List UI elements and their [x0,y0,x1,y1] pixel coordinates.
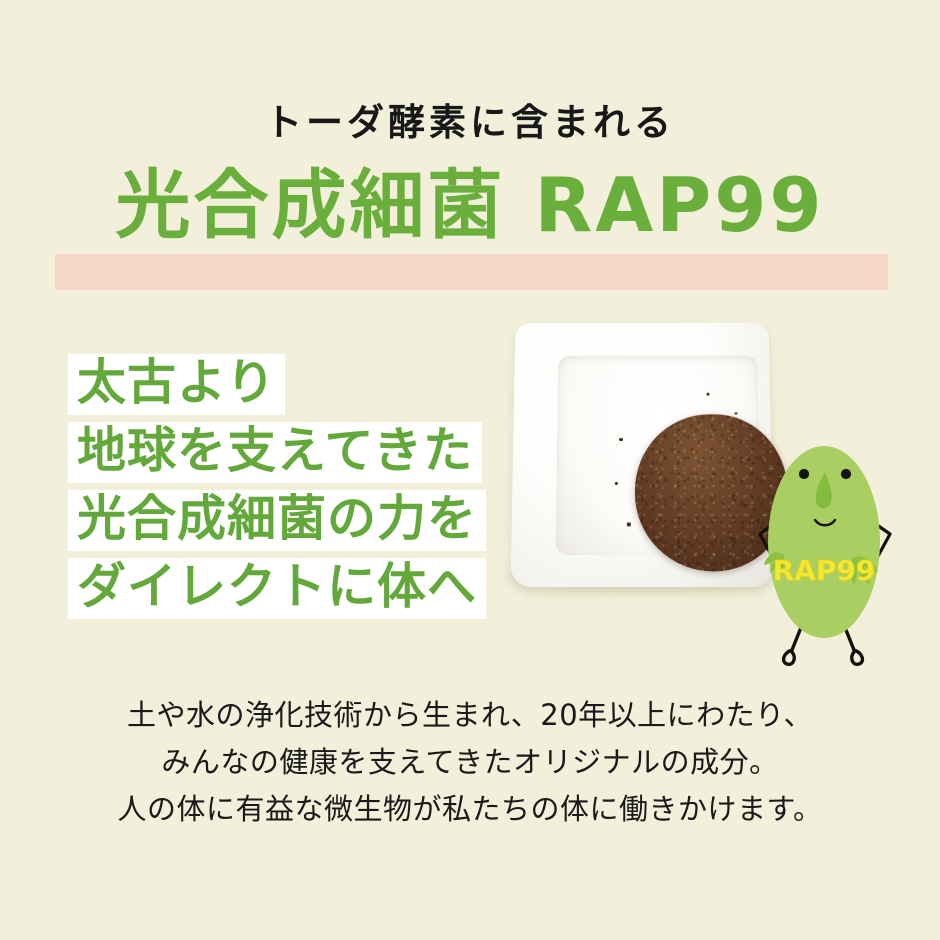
description-line-1: 土や水の浄化技術から生まれ、20年以上にわたり、 [0,692,940,739]
powder-speck [619,438,623,441]
powder-speck [627,522,631,526]
white-square-dish [511,323,774,587]
headline-block: 光合成細菌 RAP99 [0,168,940,278]
description-paragraph: 土や水の浄化技術から生まれ、20年以上にわたり、 みんなの健康を支えてきたオリジ… [0,692,940,833]
eyebrow-text: トーダ酵素に含まれる [0,104,940,141]
tagline-line-3: 光合成細菌の力を [68,490,486,551]
powder-speck [677,545,681,548]
powder-speck [730,537,735,540]
powder-speck [615,482,618,485]
description-line-2: みんなの健康を支えてきたオリジナルの成分。 [0,739,940,786]
mascot-label: RAP99 [773,554,876,587]
headline-highlight-bar [55,254,888,290]
mascot-character: RAP99 [742,424,922,676]
tagline-line-1: 太古より [68,354,285,415]
powder-speck [706,393,709,396]
powder-speck [653,539,656,542]
page-title: 光合成細菌 RAP99 [0,168,940,243]
promo-banner-root: トーダ酵素に含まれる 光合成細菌 RAP99 太古より 地球を支えてきた 光合成… [0,0,940,940]
mascot-eye-right [841,469,851,479]
dish-inner-well [556,356,761,555]
mascot-feet [784,650,863,664]
powder-speck [734,412,737,414]
mascot-eye-left [799,469,809,479]
tagline-line-4: ダイレクトに体へ [68,558,486,619]
description-line-3: 人の体に有益な微生物が私たちの体に働きかけます。 [0,786,940,833]
tagline-line-2: 地球を支えてきた [68,422,482,483]
tagline-list: 太古より 地球を支えてきた 光合成細菌の力を ダイレクトに体へ [68,354,486,619]
